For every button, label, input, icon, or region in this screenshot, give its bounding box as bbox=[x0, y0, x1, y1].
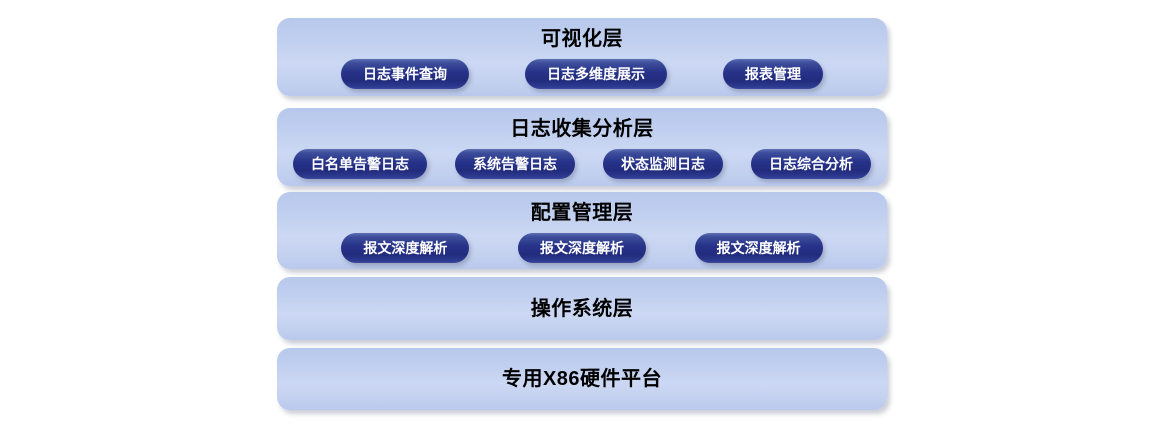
layer-hardware-platform: 专用X86硬件平台 bbox=[277, 348, 887, 410]
layer-visualization: 可视化层 日志事件查询 日志多维度展示 报表管理 bbox=[277, 18, 887, 96]
layer-operating-system: 操作系统层 bbox=[277, 277, 887, 340]
module-report-management[interactable]: 报表管理 bbox=[723, 59, 823, 89]
module-log-multidimensional-display[interactable]: 日志多维度展示 bbox=[525, 59, 667, 89]
module-log-event-query[interactable]: 日志事件查询 bbox=[341, 59, 469, 89]
module-system-alarm-log[interactable]: 系统告警日志 bbox=[455, 149, 575, 179]
module-log-comprehensive-analysis[interactable]: 日志综合分析 bbox=[751, 149, 871, 179]
module-status-monitoring-log[interactable]: 状态监测日志 bbox=[603, 149, 723, 179]
architecture-diagram: 可视化层 日志事件查询 日志多维度展示 报表管理 日志收集分析层 白名单告警日志… bbox=[0, 0, 1163, 429]
layer-configuration-management: 配置管理层 报文深度解析 报文深度解析 报文深度解析 bbox=[277, 192, 887, 269]
layer-title-operating-system: 操作系统层 bbox=[277, 297, 887, 321]
module-row-configuration-management: 报文深度解析 报文深度解析 报文深度解析 bbox=[277, 232, 887, 264]
module-packet-deep-parsing-1[interactable]: 报文深度解析 bbox=[341, 233, 469, 263]
module-whitelist-alarm-log[interactable]: 白名单告警日志 bbox=[293, 149, 427, 179]
layer-title-configuration-management: 配置管理层 bbox=[277, 201, 887, 225]
layer-title-log-collection-analysis: 日志收集分析层 bbox=[277, 117, 887, 141]
module-row-visualization: 日志事件查询 日志多维度展示 报表管理 bbox=[277, 58, 887, 90]
module-packet-deep-parsing-2[interactable]: 报文深度解析 bbox=[518, 233, 646, 263]
layer-log-collection-analysis: 日志收集分析层 白名单告警日志 系统告警日志 状态监测日志 日志综合分析 bbox=[277, 108, 887, 186]
module-row-log-collection-analysis: 白名单告警日志 系统告警日志 状态监测日志 日志综合分析 bbox=[277, 148, 887, 180]
layer-title-visualization: 可视化层 bbox=[277, 27, 887, 51]
module-packet-deep-parsing-3[interactable]: 报文深度解析 bbox=[695, 233, 823, 263]
layer-title-hardware-platform: 专用X86硬件平台 bbox=[277, 367, 887, 391]
